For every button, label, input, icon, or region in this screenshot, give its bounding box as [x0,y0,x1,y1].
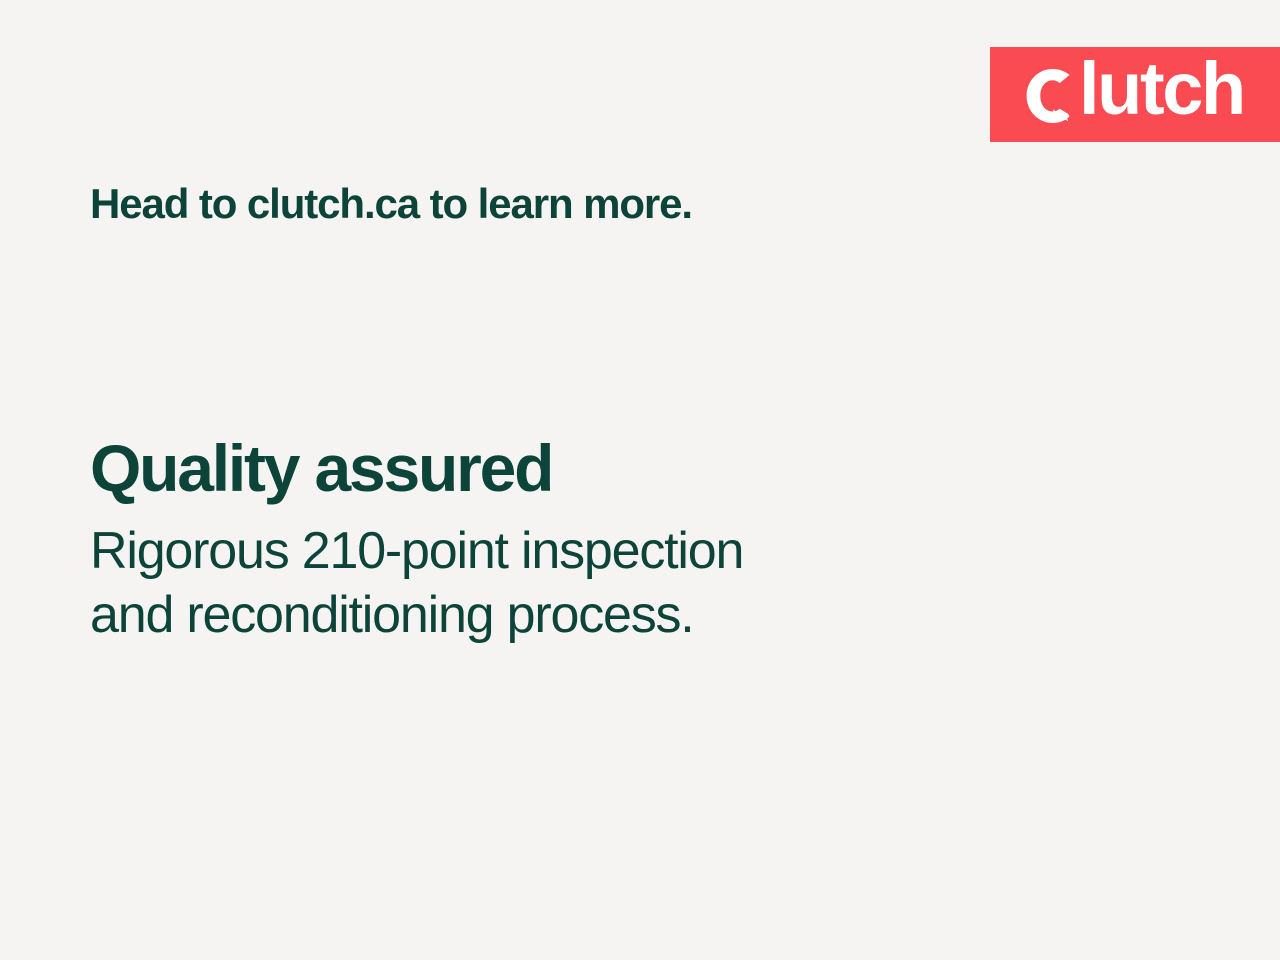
slide-canvas: lutch Head to clutch.ca to learn more. Q… [0,0,1280,960]
subcopy-text: Rigorous 210-point inspection and recond… [90,519,950,648]
clutch-logo[interactable]: lutch [990,47,1280,142]
subcopy-line-1: Rigorous 210-point inspection [90,519,950,583]
kicker-text: Head to clutch.ca to learn more. [90,180,692,228]
subcopy-line-2: and reconditioning process. [90,583,950,647]
clutch-wordmark: lutch [1026,47,1244,142]
page-title: Quality assured [90,432,1090,505]
clutch-wordmark-text: lutch [1079,52,1244,126]
headline-group: Quality assured Rigorous 210-point inspe… [90,432,1090,648]
clutch-c-mark-icon [1026,69,1078,123]
